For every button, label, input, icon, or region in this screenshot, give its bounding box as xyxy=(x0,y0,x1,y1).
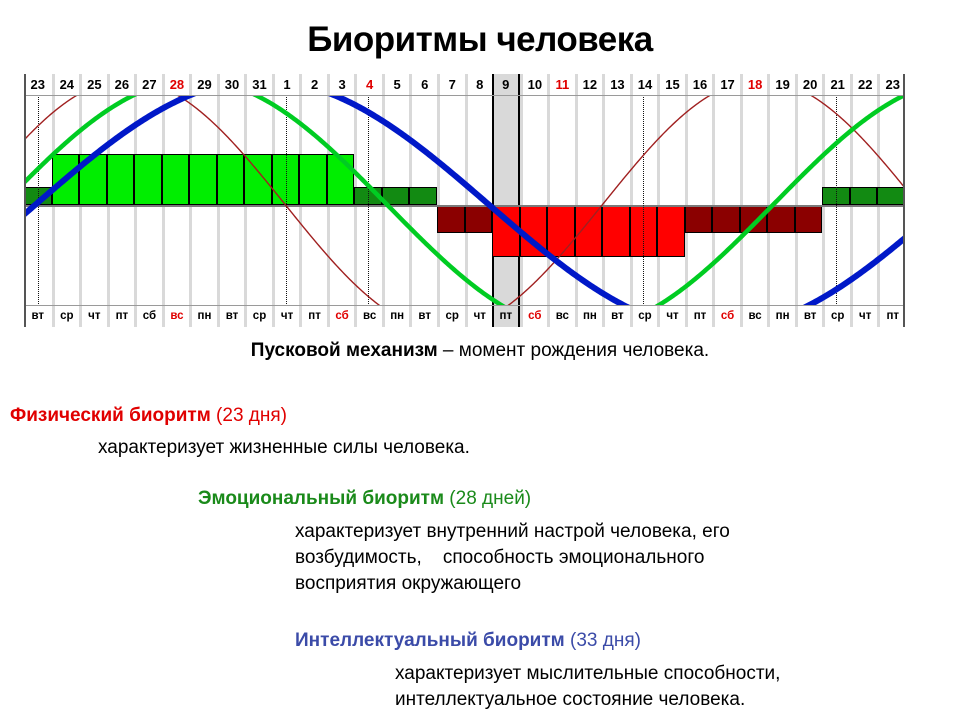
chart-bar xyxy=(217,154,245,205)
legend-physical-head: Физический биоритм (23 дня) xyxy=(10,405,470,427)
day-number-cell[interactable]: 10 xyxy=(520,74,548,95)
trigger-caption-rest: – момент рождения человека. xyxy=(438,340,710,361)
day-marker-line xyxy=(38,95,39,306)
chart-bar xyxy=(382,187,410,205)
day-number-cell[interactable]: 3 xyxy=(327,74,355,95)
day-marker-line xyxy=(836,95,837,306)
chart-bar xyxy=(134,154,162,205)
day-number-cell[interactable]: 15 xyxy=(657,74,685,95)
weekday-cell: пн xyxy=(575,306,603,327)
legend-emotional-body-line2: возбудимость, способность эмоционального xyxy=(295,545,730,571)
weekday-cell: пт xyxy=(107,306,135,327)
day-number-selected[interactable]: 9 xyxy=(492,74,520,95)
weekday-cell: пт xyxy=(492,306,520,327)
chart-bar xyxy=(327,154,355,205)
legend-emotional-body: характеризует внутренний настрой человек… xyxy=(295,519,730,597)
chart-plot-area: 2324252627282930311234567891011121314151… xyxy=(24,74,905,327)
weekday-cell: пн xyxy=(382,306,410,327)
day-number-cell[interactable]: 26 xyxy=(107,74,135,95)
weekday-cell: пт xyxy=(685,306,713,327)
chart-bar xyxy=(712,205,740,233)
day-number-cell[interactable]: 30 xyxy=(217,74,245,95)
legend-intellectual-name: Интеллектуальный биоритм xyxy=(295,630,565,651)
day-number-cell[interactable]: 29 xyxy=(189,74,217,95)
legend-intellectual-duration: (33 дня) xyxy=(565,630,641,651)
day-number-cell[interactable]: 11 xyxy=(547,74,575,95)
day-number-cell[interactable]: 27 xyxy=(134,74,162,95)
chart-left-border xyxy=(24,74,26,327)
weekday-cell: сб xyxy=(712,306,740,327)
weekday-cell: чт xyxy=(850,306,878,327)
legend-emotional-body-line3: восприятия окружающего xyxy=(295,571,730,597)
weekday-cell: вт xyxy=(24,306,52,327)
trigger-caption-bold: Пусковой механизм xyxy=(251,340,438,361)
day-number-cell[interactable]: 20 xyxy=(795,74,823,95)
weekday-cell: сб xyxy=(520,306,548,327)
chart-bar xyxy=(162,154,190,205)
weekday-cell: пт xyxy=(877,306,905,327)
chart-bar xyxy=(437,205,465,233)
header-rule xyxy=(24,95,905,96)
legend-intellectual-head: Интеллектуальный биоритм (33 дня) xyxy=(295,630,780,652)
day-number-cell[interactable]: 25 xyxy=(79,74,107,95)
day-number-header: 2324252627282930311234567891011121314151… xyxy=(24,74,905,95)
weekday-cell: сб xyxy=(327,306,355,327)
day-number-cell[interactable]: 1 xyxy=(272,74,300,95)
day-number-cell[interactable]: 12 xyxy=(575,74,603,95)
weekday-cell: пт xyxy=(299,306,327,327)
weekday-cell: вт xyxy=(795,306,823,327)
legend-intellectual-body: характеризует мыслительные способности, … xyxy=(395,661,780,713)
day-number-cell[interactable]: 8 xyxy=(465,74,493,95)
weekday-cell: ср xyxy=(244,306,272,327)
legend-physical-name: Физический биоритм xyxy=(10,405,211,426)
legend-emotional-name: Эмоциональный биоритм xyxy=(198,488,444,509)
weekday-cell: ср xyxy=(52,306,80,327)
legend-emotional-duration: (28 дней) xyxy=(444,488,531,509)
weekday-cell: чт xyxy=(272,306,300,327)
page-title: Биоритмы человека xyxy=(0,0,960,66)
weekday-cell: пн xyxy=(767,306,795,327)
day-marker-line xyxy=(643,95,644,306)
weekday-cell: ср xyxy=(437,306,465,327)
day-number-cell[interactable]: 7 xyxy=(437,74,465,95)
day-number-cell[interactable]: 17 xyxy=(712,74,740,95)
chart-bar xyxy=(575,205,603,257)
day-number-cell[interactable]: 13 xyxy=(602,74,630,95)
chart-bar xyxy=(492,205,520,257)
day-number-cell[interactable]: 28 xyxy=(162,74,190,95)
day-number-cell[interactable]: 23 xyxy=(877,74,905,95)
weekday-cell: ср xyxy=(630,306,658,327)
legend-intellectual-body-line2: интеллектуальное состояние человека. xyxy=(395,687,780,713)
weekday-cell: ср xyxy=(822,306,850,327)
chart-bar xyxy=(850,187,878,205)
legend-intellectual: Интеллектуальный биоритм (33 дня) характ… xyxy=(295,630,780,713)
day-marker-line xyxy=(368,95,369,306)
weekday-cell: вт xyxy=(602,306,630,327)
day-number-cell[interactable]: 23 xyxy=(24,74,52,95)
chart-bar xyxy=(465,205,493,233)
footer-rule xyxy=(24,305,905,306)
weekday-cell: чт xyxy=(79,306,107,327)
chart-bar xyxy=(107,154,135,205)
chart-bar xyxy=(602,205,630,257)
chart-bars xyxy=(24,74,905,327)
legend-physical: Физический биоритм (23 дня) характеризуе… xyxy=(10,405,470,459)
chart-bar xyxy=(685,205,713,233)
day-number-cell[interactable]: 16 xyxy=(685,74,713,95)
legend-emotional: Эмоциональный биоритм (28 дней) характер… xyxy=(198,488,730,597)
chart-bar xyxy=(79,154,107,205)
chart-bar xyxy=(52,154,80,205)
chart-bar xyxy=(877,187,905,205)
chart-bar xyxy=(547,205,575,257)
day-number-cell[interactable]: 4 xyxy=(354,74,382,95)
chart-bar xyxy=(767,205,795,233)
weekday-cell: пн xyxy=(189,306,217,327)
chart-bar xyxy=(740,205,768,233)
weekday-cell: вс xyxy=(162,306,190,327)
chart-bar xyxy=(657,205,685,257)
weekday-cell: вс xyxy=(354,306,382,327)
legend-emotional-head: Эмоциональный биоритм (28 дней) xyxy=(198,488,730,510)
legend-physical-body: характеризует жизненные силы человека. xyxy=(98,437,470,459)
chart-bar xyxy=(244,154,272,205)
weekday-cell: вс xyxy=(740,306,768,327)
day-marker-line xyxy=(286,95,287,306)
day-number-cell[interactable]: 19 xyxy=(767,74,795,95)
chart-right-border xyxy=(903,74,905,327)
day-number-cell[interactable]: 2 xyxy=(299,74,327,95)
chart-bar xyxy=(299,154,327,205)
chart-bar xyxy=(795,205,823,233)
weekday-cell: чт xyxy=(657,306,685,327)
biorhythm-chart: 2324252627282930311234567891011121314151… xyxy=(24,74,905,327)
day-number-cell[interactable]: 14 xyxy=(630,74,658,95)
day-number-cell[interactable]: 31 xyxy=(244,74,272,95)
weekday-cell: сб xyxy=(134,306,162,327)
trigger-caption: Пусковой механизм – момент рождения чело… xyxy=(0,340,960,362)
day-number-cell[interactable]: 18 xyxy=(740,74,768,95)
day-number-cell[interactable]: 21 xyxy=(822,74,850,95)
day-number-cell[interactable]: 5 xyxy=(382,74,410,95)
day-number-cell[interactable]: 22 xyxy=(850,74,878,95)
legend-emotional-body-line1: характеризует внутренний настрой человек… xyxy=(295,519,730,545)
weekday-cell: вт xyxy=(409,306,437,327)
legend-intellectual-body-line1: характеризует мыслительные способности, xyxy=(395,661,780,687)
chart-bar xyxy=(409,187,437,205)
chart-baseline xyxy=(24,205,905,207)
legend-physical-duration: (23 дня) xyxy=(211,405,287,426)
day-number-cell[interactable]: 6 xyxy=(409,74,437,95)
weekday-footer: втсрчтптсбвспнвтсрчтптсбвспнвтсрчтптсбвс… xyxy=(24,306,905,327)
day-number-cell[interactable]: 24 xyxy=(52,74,80,95)
weekday-cell: вт xyxy=(217,306,245,327)
weekday-cell: вс xyxy=(547,306,575,327)
chart-bar xyxy=(189,154,217,205)
weekday-cell: чт xyxy=(465,306,493,327)
chart-bar xyxy=(520,205,548,257)
